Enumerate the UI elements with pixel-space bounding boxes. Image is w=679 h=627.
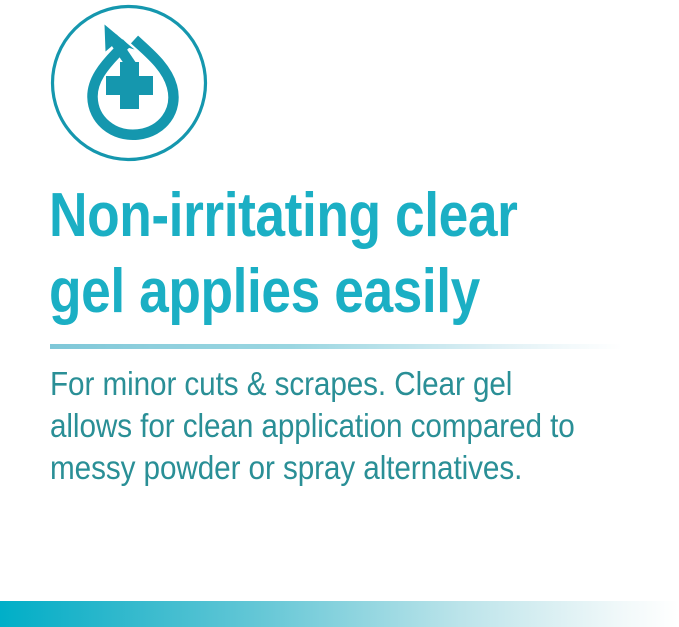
bottom-gradient-bar: [0, 601, 679, 627]
divider: [50, 344, 622, 349]
body-line-2: allows for clean application compared to: [50, 405, 626, 447]
body-line-1: For minor cuts & scrapes. Clear gel: [50, 363, 626, 405]
icon-medical-cross: [107, 63, 153, 109]
droplet-with-medical-cross-and-arrow-icon: [48, 4, 210, 166]
body-copy: For minor cuts & scrapes. Clear gel allo…: [50, 363, 626, 489]
headline: Non-irritating clear gel applies easily: [49, 178, 565, 330]
feature-panel: Non-irritating clear gel applies easily …: [0, 0, 679, 627]
headline-line-1: Non-irritating clear: [49, 178, 565, 254]
headline-line-2: gel applies easily: [49, 254, 565, 330]
body-line-3: messy powder or spray alternatives.: [50, 447, 626, 489]
